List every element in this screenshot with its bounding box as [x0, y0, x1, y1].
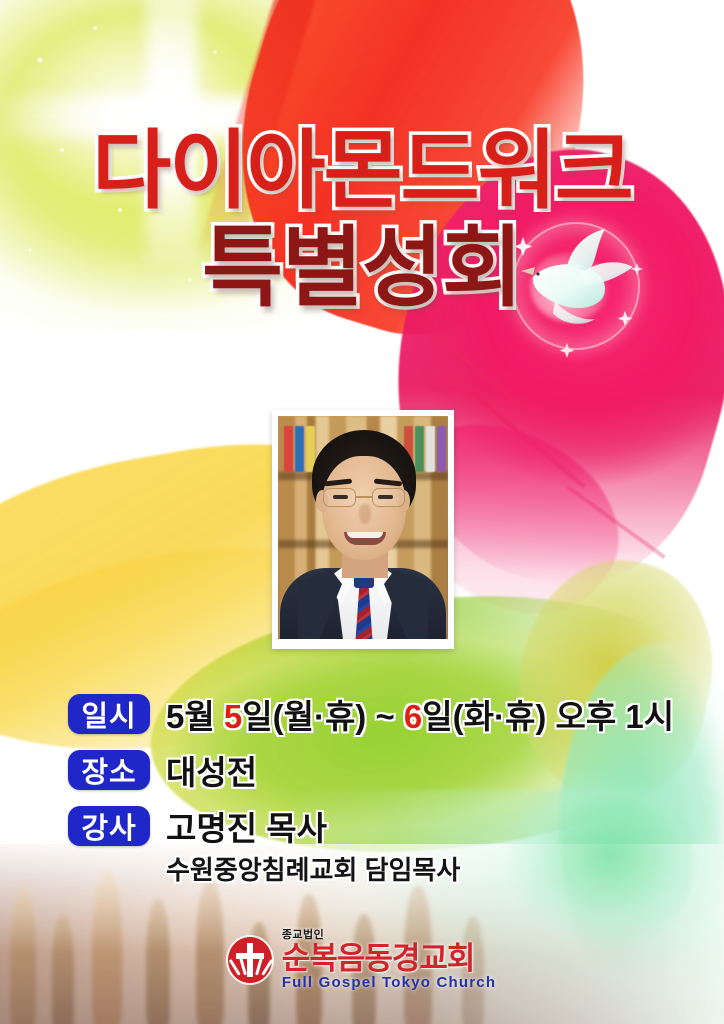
speaker-subtitle: 수원중앙침례교회 담임목사 [0, 850, 724, 887]
logo-english-name: Full Gospel Tokyo Church [282, 975, 496, 990]
badge-place: 장소 [68, 750, 150, 790]
poster-title: 다이아몬드워크 특별성회 [0, 128, 724, 312]
title-line-1: 다이아몬드워크 [0, 128, 724, 214]
title-line-2: 특별성회 [0, 224, 724, 312]
speaker-name: 고명진 목사 [166, 802, 327, 850]
book [426, 426, 435, 472]
badge-date: 일시 [68, 694, 150, 734]
glasses-bridge [356, 496, 372, 498]
logo-text-block: 종교법인 순복음동경교회 Full Gospel Tokyo Church [282, 930, 496, 990]
place-text: 대성전 [166, 746, 257, 794]
date-part: 일(화·휴) 오후 1시 [422, 698, 674, 735]
teeth [347, 532, 383, 538]
logo-subtitle: 종교법인 [282, 930, 324, 941]
poster-canvas: 다이아몬드워크 특별성회 [0, 0, 724, 1024]
detail-row-place: 장소 대성전 [0, 742, 724, 798]
date-part: 5월 [166, 698, 224, 735]
detail-row-speaker: 강사 고명진 목사 [0, 798, 724, 854]
event-details: 일시 5월 5일(월·휴) ~ 6일(화·휴) 오후 1시 장소 대성전 강사 … [0, 686, 724, 887]
speaker-portrait [278, 416, 448, 639]
detail-row-date: 일시 5월 5일(월·휴) ~ 6일(화·휴) 오후 1시 [0, 686, 724, 742]
lens-left [323, 488, 356, 507]
book [295, 426, 304, 472]
full-gospel-cross-icon [228, 937, 272, 983]
date-part: 일(월·휴) ~ [242, 698, 404, 735]
church-logo: 종교법인 순복음동경교회 Full Gospel Tokyo Church [0, 930, 724, 990]
book [437, 426, 446, 472]
logo-korean-name: 순복음동경교회 [282, 943, 475, 974]
date-day-end: 6 [404, 698, 422, 735]
lens-right [372, 488, 405, 507]
book [284, 426, 293, 472]
badge-speaker: 강사 [68, 806, 150, 846]
logo-cross-horizontal [236, 953, 264, 959]
logo-cross-vertical [247, 943, 253, 977]
book [415, 426, 424, 472]
mouth [344, 532, 386, 545]
date-day-start: 5 [224, 698, 242, 735]
speaker-portrait-frame [272, 410, 454, 649]
nose [359, 504, 371, 524]
date-text: 5월 5일(월·휴) ~ 6일(화·휴) 오후 1시 [166, 690, 674, 738]
